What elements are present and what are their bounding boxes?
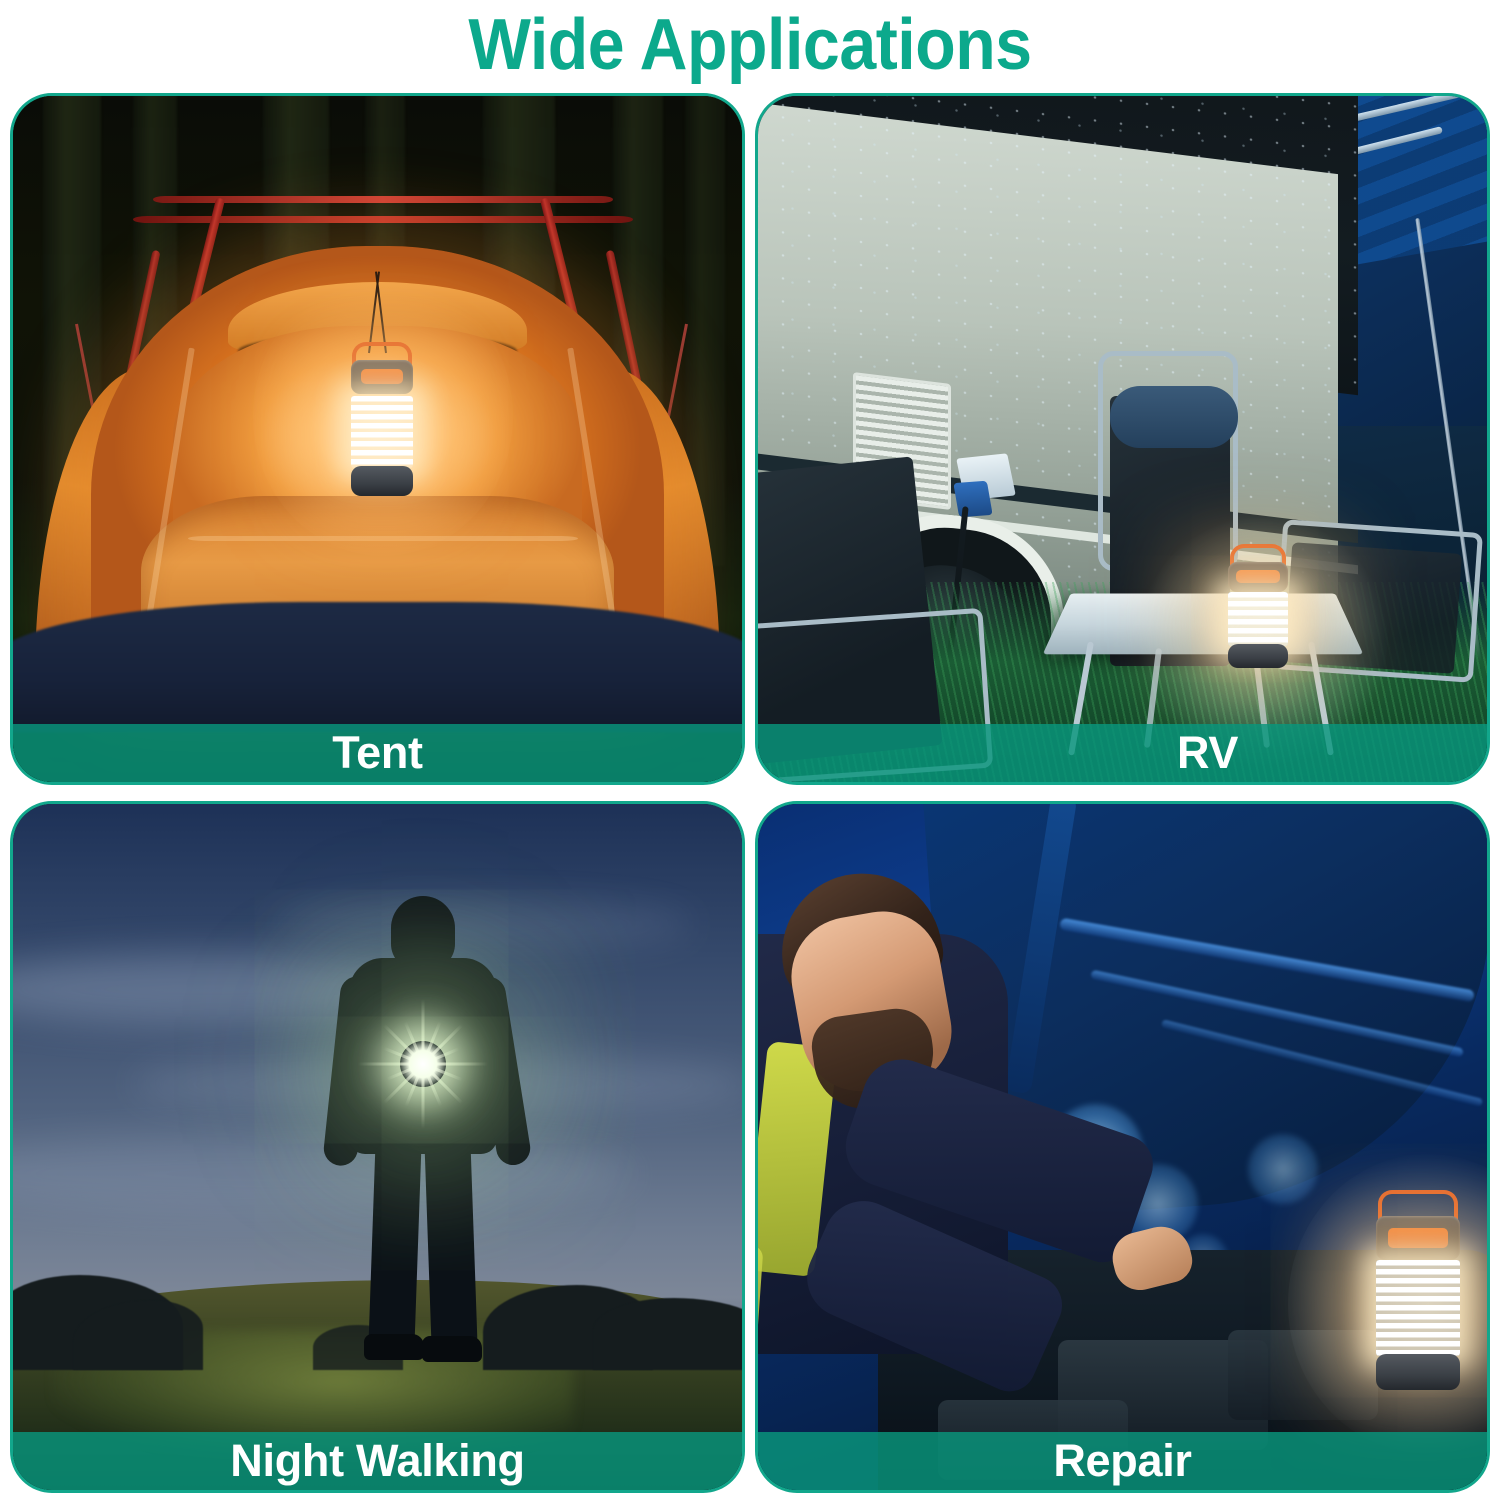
caption-label-repair: Repair (758, 1432, 1487, 1490)
caption-band-rv: RV (758, 724, 1487, 782)
application-grid: Tent (10, 93, 1490, 1493)
led-lantern[interactable] (1228, 544, 1288, 672)
lantern-beam (363, 1004, 483, 1124)
night-walking-scene (13, 804, 742, 1490)
panel-rv[interactable]: RV (755, 93, 1490, 785)
caption-band-tent: Tent (13, 724, 742, 782)
person-silhouette (328, 896, 518, 1416)
caption-band-night-walking: Night Walking (13, 1432, 742, 1490)
led-lantern[interactable] (1376, 1190, 1460, 1386)
caption-label-tent: Tent (13, 724, 742, 782)
repair-scene (758, 804, 1487, 1490)
mechanic (758, 844, 1238, 1464)
panel-tent[interactable]: Tent (10, 93, 745, 785)
panel-night-walking[interactable]: Night Walking (10, 801, 745, 1493)
panel-repair[interactable]: Repair (755, 801, 1490, 1493)
caption-band-repair: Repair (758, 1432, 1487, 1490)
rv-scene (758, 96, 1487, 782)
caption-label-rv: RV (758, 724, 1487, 782)
page-title: Wide Applications (60, 4, 1440, 86)
led-lantern[interactable] (351, 342, 413, 502)
caption-label-night-walking: Night Walking (13, 1432, 742, 1490)
tent-scene (13, 96, 742, 782)
infographic-page: Wide Applications (0, 0, 1500, 1500)
